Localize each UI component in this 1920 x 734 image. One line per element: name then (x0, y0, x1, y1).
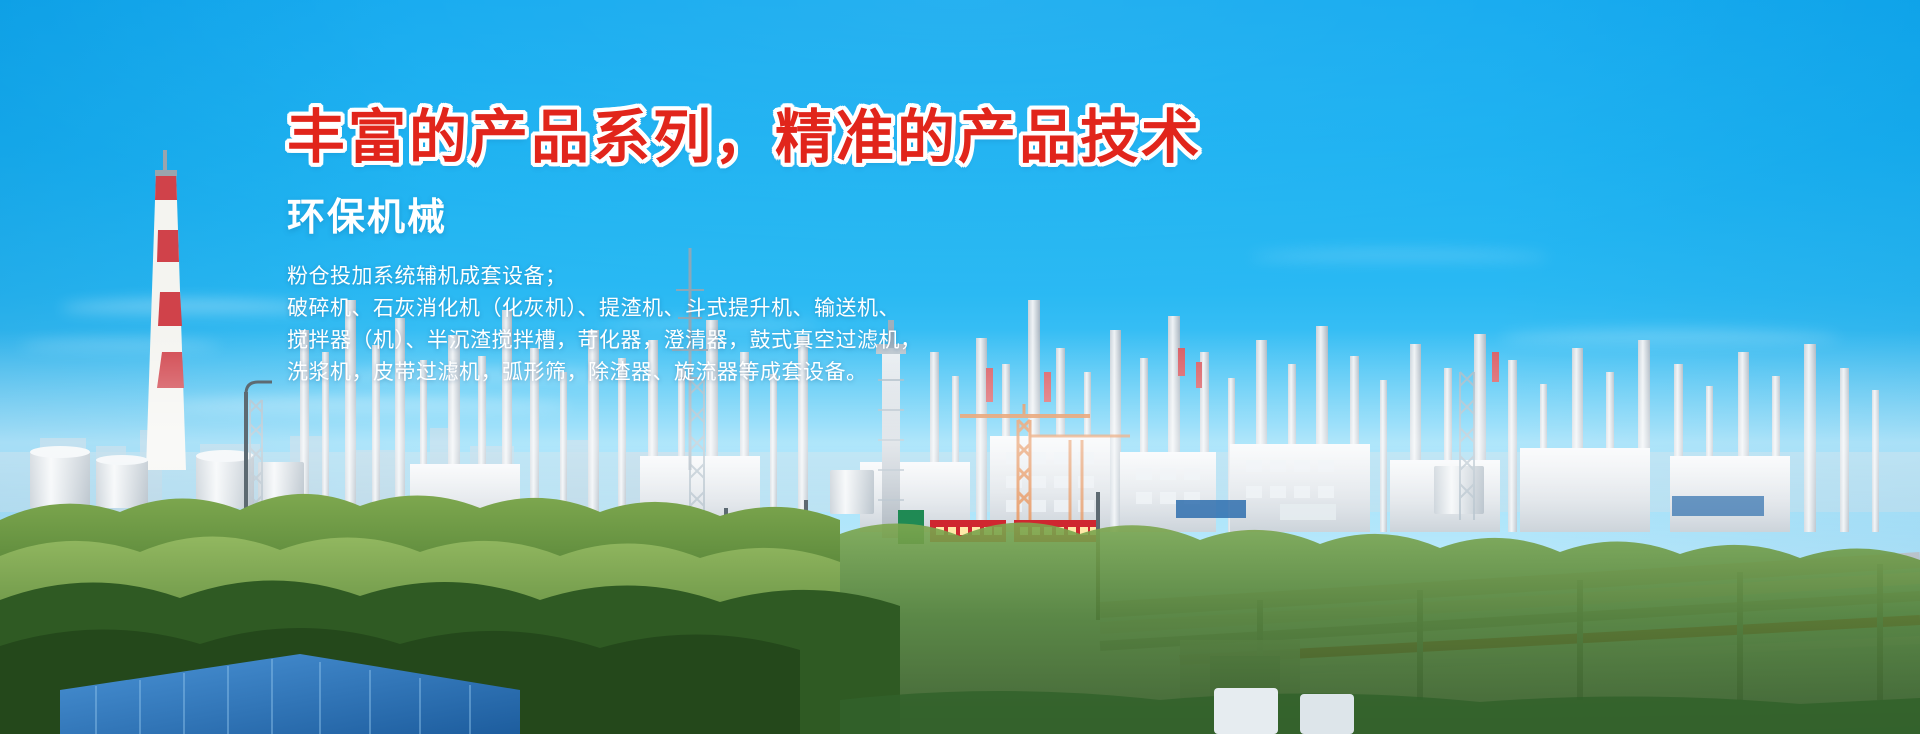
banner-subheadline: 环保机械 (287, 195, 1287, 241)
banner-headline: 丰富的产品系列，精准的产品技术 (287, 104, 1287, 171)
body-line-1: 粉仓投加系统辅机成套设备； (287, 260, 1287, 292)
body-line-2: 破碎机、石灰消化机（化灰机）、提渣机、斗式提升机、输送机、 (287, 292, 1287, 324)
hero-banner: 丰富的产品系列，精准的产品技术 环保机械 粉仓投加系统辅机成套设备； 破碎机、石… (0, 0, 1920, 734)
banner-body-text: 粉仓投加系统辅机成套设备； 破碎机、石灰消化机（化灰机）、提渣机、斗式提升机、输… (287, 260, 1287, 388)
body-line-3: 搅拌器（机）、半沉渣搅拌槽，苛化器，澄清器，鼓式真空过滤机， (287, 324, 1287, 356)
body-line-4: 洗浆机，皮带过滤机，弧形筛，除渣器、旋流器等成套设备。 (287, 356, 1287, 388)
banner-text-overlay: 丰富的产品系列，精准的产品技术 环保机械 粉仓投加系统辅机成套设备； 破碎机、石… (287, 104, 1287, 388)
